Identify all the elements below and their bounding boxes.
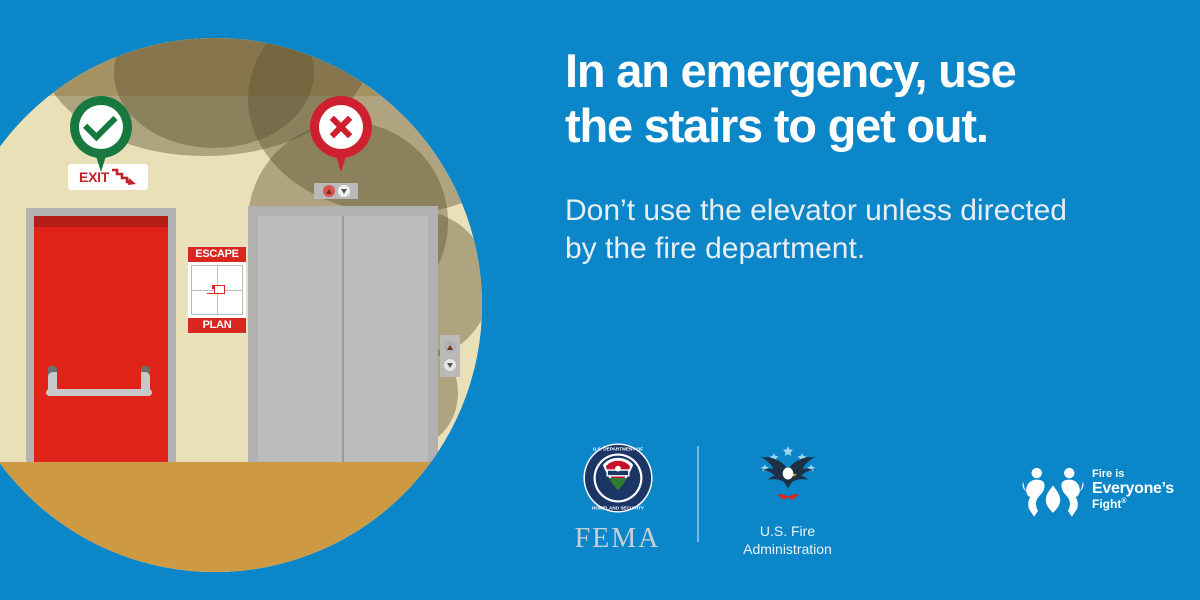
feef-line-3: Fight®: [1092, 498, 1174, 511]
push-bar-handle[interactable]: [46, 366, 152, 396]
elevator-door-frame: [248, 206, 438, 464]
fema-logo: U.S. DEPARTMENT OF HOMELAND SECURITY FEM…: [560, 442, 675, 555]
page-title: In an emergency, use the stairs to get o…: [565, 44, 1085, 153]
usfa-line-2: Administration: [725, 541, 850, 559]
svg-text:U.S. DEPARTMENT OF: U.S. DEPARTMENT OF: [592, 447, 642, 452]
approved-pin-stairs: [70, 96, 132, 172]
elevator-down-button[interactable]: [338, 185, 350, 197]
push-bar: [46, 389, 152, 396]
elevator-up-button[interactable]: [323, 185, 335, 197]
usfa-logo: U.S. Fire Administration: [725, 442, 850, 559]
floor: [0, 462, 482, 572]
exit-sign-label: EXIT: [79, 170, 109, 184]
elevator-call-panel-side[interactable]: [440, 335, 460, 377]
logo-divider: [697, 446, 699, 542]
illustration-clip: EXIT ESCAPE PLAN: [0, 38, 482, 572]
forbidden-pin-elevator: [310, 96, 372, 172]
feef-fight-word: Fight: [1092, 497, 1121, 511]
fema-wordmark: FEMA: [560, 523, 675, 555]
feef-line-2: Everyone’s: [1092, 481, 1174, 498]
escape-poster-footer: PLAN: [188, 318, 246, 333]
two-figures-flame-icon: [1020, 462, 1086, 518]
stairwell-door-frame: [26, 208, 176, 463]
usfa-wordmark: U.S. Fire Administration: [725, 523, 850, 559]
x-icon: [328, 114, 354, 140]
fire-is-everyones-fight-text: Fire is Everyone’s Fight®: [1092, 469, 1174, 510]
escape-plan-poster: ESCAPE PLAN: [186, 245, 248, 335]
fire-is-everyones-fight-logo: Fire is Everyone’s Fight®: [1020, 462, 1174, 518]
check-icon: [83, 106, 118, 141]
door-top-strip: [34, 216, 168, 227]
stairwell-door[interactable]: [34, 216, 168, 463]
trademark-symbol: ®: [1121, 498, 1126, 505]
poster-canvas: EXIT ESCAPE PLAN: [0, 0, 1200, 600]
escape-poster-header: ESCAPE: [188, 247, 246, 262]
illustration-circle: EXIT ESCAPE PLAN: [0, 38, 482, 572]
escape-plan-diagram: [191, 265, 243, 315]
agency-logos: U.S. DEPARTMENT OF HOMELAND SECURITY FEM…: [560, 442, 850, 559]
elevator-doors: [258, 216, 428, 464]
usfa-eagle-icon: [752, 442, 824, 512]
elevator-up-button[interactable]: [444, 341, 456, 353]
usfa-line-1: U.S. Fire: [725, 523, 850, 541]
elevator-door-right: [343, 216, 428, 464]
elevator-call-panel[interactable]: [314, 183, 358, 199]
elevator-down-button[interactable]: [444, 359, 456, 371]
dhs-seal-icon: U.S. DEPARTMENT OF HOMELAND SECURITY: [582, 442, 654, 514]
svg-text:HOMELAND SECURITY: HOMELAND SECURITY: [592, 506, 645, 511]
page-subtitle: Don’t use the elevator unless directed b…: [565, 192, 1105, 269]
elevator-door-left: [258, 216, 343, 464]
